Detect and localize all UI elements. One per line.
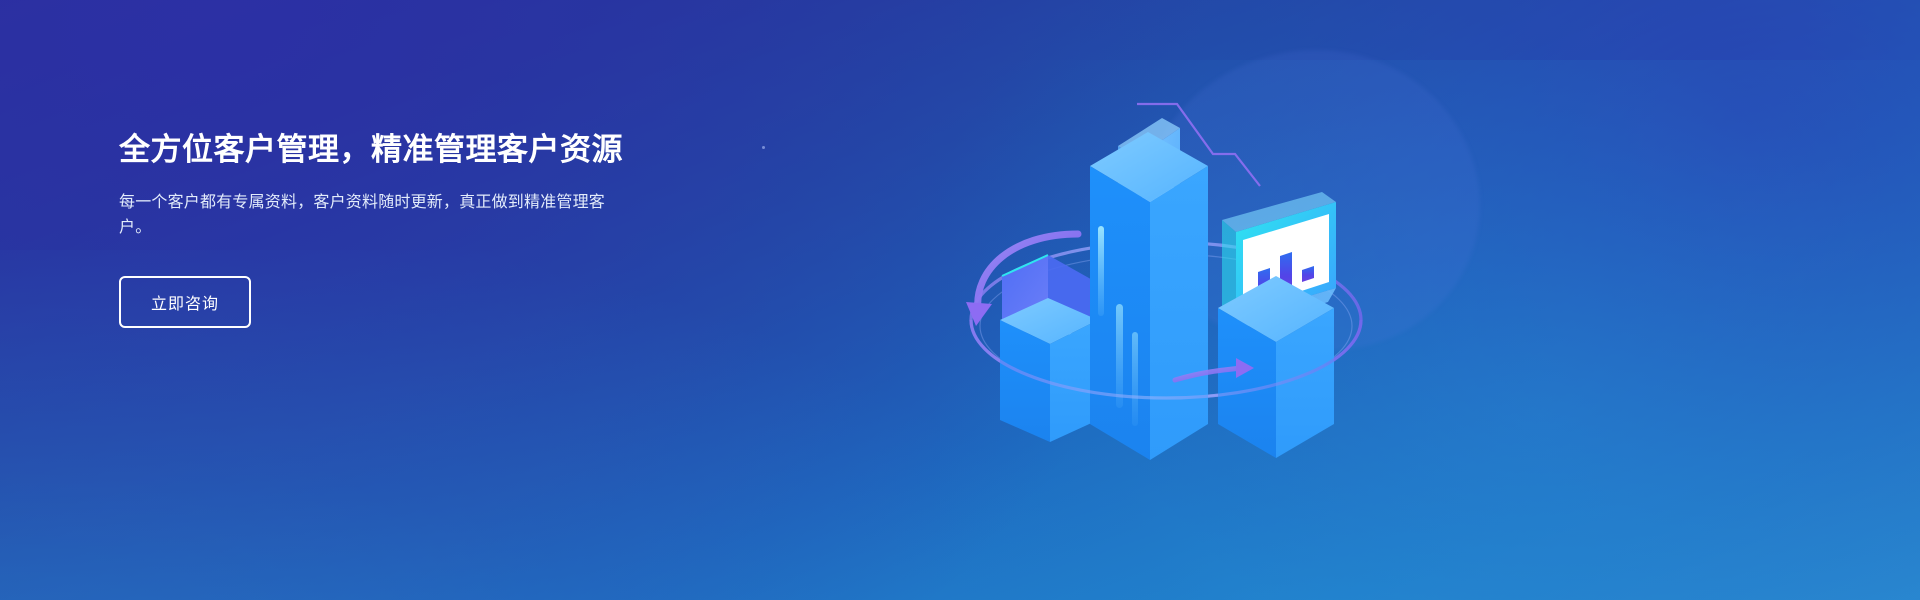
hero-illustration [930, 20, 1400, 490]
hero-copy-block: 全方位客户管理，精准管理客户资源 每一个客户都有专属资料，客户资料随时更新，真正… [119, 128, 759, 328]
hero-banner: 全方位客户管理，精准管理客户资源 每一个客户都有专属资料，客户资料随时更新，真正… [0, 0, 1920, 600]
hero-subtitle: 每一个客户都有专属资料，客户资料随时更新，真正做到精准管理客户。 [119, 172, 609, 240]
page-title: 全方位客户管理，精准管理客户资源 [119, 128, 759, 172]
pillar-right [1218, 192, 1336, 458]
pillar-center [1090, 118, 1208, 460]
pillar-left [1000, 255, 1098, 442]
decorative-speck [762, 146, 765, 149]
consult-now-button[interactable]: 立即咨询 [119, 276, 251, 328]
